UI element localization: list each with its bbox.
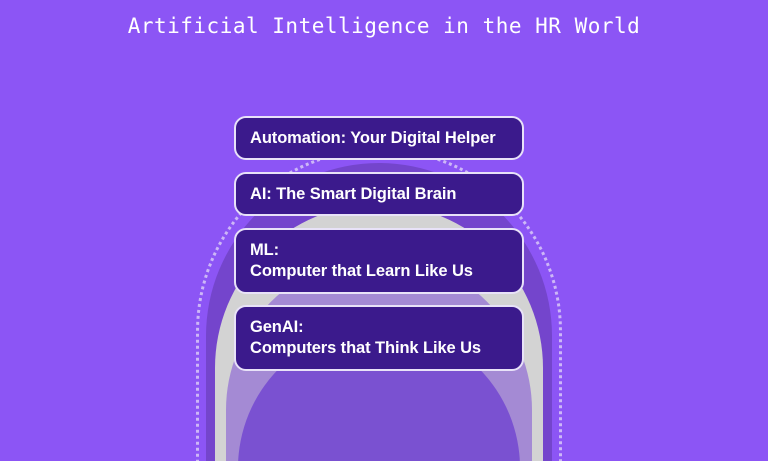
concept-card-genai[interactable]: GenAI: Computers that Think Like Us — [234, 305, 524, 371]
concept-card-automation[interactable]: Automation: Your Digital Helper — [234, 116, 524, 160]
card-label-line1: AI: The Smart Digital Brain — [250, 184, 508, 205]
concept-card-ai[interactable]: AI: The Smart Digital Brain — [234, 172, 524, 216]
card-label-line2: Computer that Learn Like Us — [250, 261, 508, 282]
concept-card-stack: Automation: Your Digital Helper AI: The … — [234, 0, 524, 461]
card-label-line1: GenAI: — [250, 317, 508, 338]
card-label-line2: Computers that Think Like Us — [250, 338, 508, 359]
concept-card-ml[interactable]: ML: Computer that Learn Like Us — [234, 228, 524, 294]
card-label-line1: Automation: Your Digital Helper — [250, 128, 508, 149]
slide-canvas: Artificial Intelligence in the HR World … — [0, 0, 768, 461]
card-label-line1: ML: — [250, 240, 508, 261]
